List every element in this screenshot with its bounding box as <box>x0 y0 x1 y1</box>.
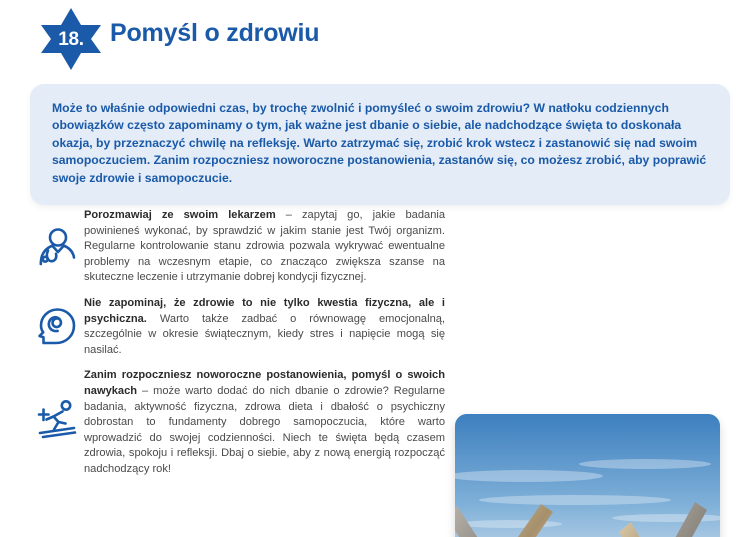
badge-number: 18. <box>38 8 104 70</box>
list-item-lead: Porozmawiaj ze swoim lekarzem <box>84 209 276 221</box>
intro-callout-text: Może to właśnie odpowiedni czas, by troc… <box>52 100 708 187</box>
head-spiral-mental-health-icon <box>30 300 84 354</box>
list-item: Zanim rozpoczniesz noworoczne postanowie… <box>30 366 445 477</box>
list-item-text: Zanim rozpoczniesz noworoczne postanowie… <box>84 366 445 477</box>
list-item: Nie zapominaj, że zdrowie to nie tylko k… <box>30 294 445 358</box>
list-item: Porozmawiaj ze swoim lekarzem – zapytaj … <box>30 206 445 286</box>
skier-icon <box>30 392 84 446</box>
poster-page: 18. Pomyśl o zdrowiu Może to właśnie odp… <box>0 0 750 537</box>
list-item-rest: – może warto dodać do nich dbanie o zdro… <box>84 385 445 475</box>
page-header: 18. Pomyśl o zdrowiu <box>0 0 750 76</box>
advice-list: Porozmawiaj ze swoim lekarzem – zapytaj … <box>30 206 445 482</box>
content-area: Porozmawiaj ze swoim lekarzem – zapytaj … <box>0 206 750 506</box>
winter-skiers-in-snow-photo <box>455 414 720 537</box>
intro-callout-box: Może to właśnie odpowiedni czas, by troc… <box>30 84 730 205</box>
star-badge: 18. <box>38 8 104 70</box>
list-item-text: Nie zapominaj, że zdrowie to nie tylko k… <box>84 294 445 358</box>
list-item-text: Porozmawiaj ze swoim lekarzem – zapytaj … <box>84 206 445 286</box>
doctor-stethoscope-icon <box>30 222 84 276</box>
page-title: Pomyśl o zdrowiu <box>110 19 319 48</box>
